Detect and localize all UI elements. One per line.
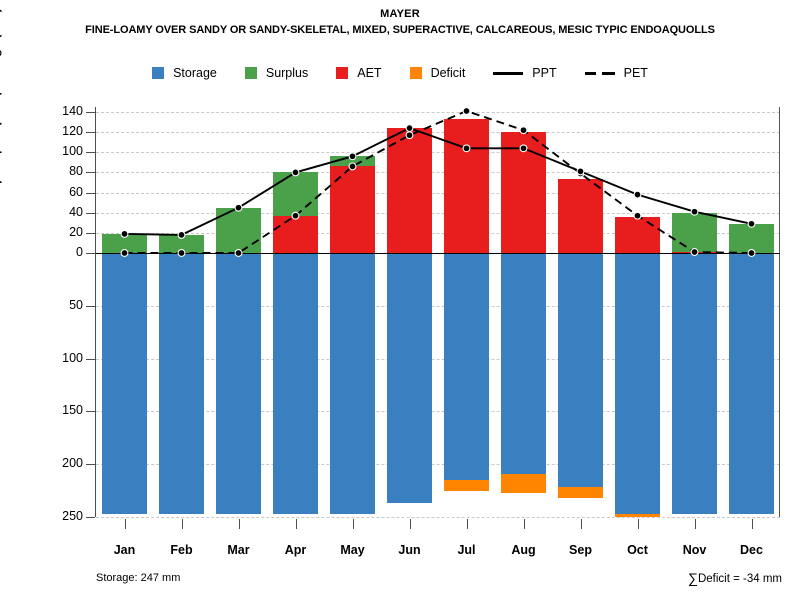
legend-swatch-deficit <box>410 67 422 79</box>
x-axis-label-nov: Nov <box>665 543 725 557</box>
legend-label-deficit: Deficit <box>431 66 466 80</box>
y-tick-label: 100 <box>62 351 83 365</box>
x-axis-label-oct: Oct <box>608 543 668 557</box>
water-balance-chart: MAYER FINE-LOAMY OVER SANDY OR SANDY-SKE… <box>0 0 800 600</box>
y-tick-label: 250 <box>62 509 83 523</box>
x-axis-label-mar: Mar <box>209 543 269 557</box>
y-tick-mark <box>86 152 95 153</box>
bar-segment-surplus-feb <box>159 235 203 253</box>
bar-segment-surplus-may <box>330 156 374 166</box>
y-tick-mark <box>86 464 95 465</box>
y-tick-mark <box>86 306 95 307</box>
y-tick-mark <box>86 517 95 518</box>
y-tick-mark <box>86 253 95 254</box>
bar-column-dec[interactable] <box>729 107 773 517</box>
x-tick-nov <box>695 519 696 529</box>
x-tick-oct <box>638 519 639 529</box>
y-tick-label: 150 <box>62 403 83 417</box>
bar-column-oct[interactable] <box>615 107 659 517</box>
x-axis-label-sep: Sep <box>551 543 611 557</box>
x-tick-may <box>353 519 354 529</box>
bar-column-apr[interactable] <box>273 107 317 517</box>
x-axis-label-jan: Jan <box>95 543 155 557</box>
y-tick-label: 50 <box>69 298 83 312</box>
x-axis-label-may: May <box>323 543 383 557</box>
legend-item-pet[interactable]: PET <box>585 66 648 80</box>
x-tick-mar <box>239 519 240 529</box>
bar-segment-storage-oct <box>615 253 659 514</box>
y-tick-label: 0 <box>76 245 83 259</box>
bar-segment-deficit-oct <box>615 514 659 517</box>
bar-column-mar[interactable] <box>216 107 260 517</box>
y-tick-label: 100 <box>62 144 83 158</box>
bar-column-may[interactable] <box>330 107 374 517</box>
bar-segment-surplus-apr <box>273 172 317 215</box>
bar-segment-aet-jun <box>387 128 431 253</box>
y-tick-mark <box>86 411 95 412</box>
legend-item-ppt[interactable]: PPT <box>493 66 556 80</box>
y-tick-label: 40 <box>69 205 83 219</box>
bar-segment-storage-feb <box>159 253 203 514</box>
y-tick-mark <box>86 213 95 214</box>
bar-segment-deficit-jul <box>444 480 488 491</box>
bar-segment-storage-dec <box>729 253 773 514</box>
y-tick-label: 60 <box>69 185 83 199</box>
bar-segment-surplus-dec <box>729 224 773 253</box>
x-tick-apr <box>296 519 297 529</box>
bar-segment-surplus-mar <box>216 208 260 253</box>
bar-column-aug[interactable] <box>501 107 545 517</box>
legend-item-deficit[interactable]: Deficit <box>410 66 466 80</box>
bar-segment-aet-sep <box>558 179 602 253</box>
bar-column-nov[interactable] <box>672 107 716 517</box>
deficit-annotation: ∑Deficit = -34 mm <box>688 570 782 586</box>
bar-segment-storage-sep <box>558 253 602 487</box>
y-tick-label: 120 <box>62 124 83 138</box>
bar-column-sep[interactable] <box>558 107 602 517</box>
x-tick-aug <box>524 519 525 529</box>
deficit-annotation-text: Deficit = -34 mm <box>698 573 782 585</box>
y-tick-mark <box>86 233 95 234</box>
legend-label-pet: PET <box>624 66 648 80</box>
y-tick-mark <box>86 359 95 360</box>
x-axis-label-dec: Dec <box>722 543 782 557</box>
x-tick-jan <box>125 519 126 529</box>
x-axis-label-feb: Feb <box>152 543 212 557</box>
bar-segment-storage-mar <box>216 253 260 514</box>
bar-segment-storage-jun <box>387 253 431 503</box>
bar-segment-surplus-jan <box>102 234 146 253</box>
legend-label-surplus: Surplus <box>266 66 308 80</box>
zero-baseline <box>96 253 780 254</box>
legend-label-storage: Storage <box>173 66 217 80</box>
x-axis-label-jul: Jul <box>437 543 497 557</box>
y-tick-mark <box>86 193 95 194</box>
bar-segment-aet-may <box>330 166 374 253</box>
y-tick-label: 200 <box>62 456 83 470</box>
x-axis-label-jun: Jun <box>380 543 440 557</box>
chart-legend: StorageSurplusAETDeficitPPTPET <box>0 66 800 80</box>
y-tick-mark <box>86 132 95 133</box>
bar-segment-deficit-aug <box>501 474 545 493</box>
x-tick-feb <box>182 519 183 529</box>
legend-item-storage[interactable]: Storage <box>152 66 217 80</box>
bar-segment-aet-apr <box>273 216 317 253</box>
bar-segment-aet-oct <box>615 217 659 253</box>
y-tick-label: 80 <box>69 164 83 178</box>
y-tick-mark <box>86 172 95 173</box>
bar-segment-storage-jan <box>102 253 146 514</box>
legend-item-surplus[interactable]: Surplus <box>245 66 308 80</box>
bar-segment-storage-aug <box>501 253 545 474</box>
y-axis-title: Inputs | Outputs | Storage (mm) <box>0 0 2 195</box>
bar-segment-storage-jul <box>444 253 488 480</box>
x-tick-dec <box>752 519 753 529</box>
bar-segment-deficit-sep <box>558 487 602 498</box>
chart-subtitle: FINE-LOAMY OVER SANDY OR SANDY-SKELETAL,… <box>0 24 800 36</box>
legend-swatch-storage <box>152 67 164 79</box>
y-tick-label: 140 <box>62 104 83 118</box>
bar-segment-storage-apr <box>273 253 317 514</box>
legend-swatch-aet <box>336 67 348 79</box>
bar-segment-surplus-nov <box>672 213 716 252</box>
storage-annotation: Storage: 247 mm <box>96 572 180 584</box>
bar-column-jan[interactable] <box>102 107 146 517</box>
bar-column-jul[interactable] <box>444 107 488 517</box>
bar-segment-aet-aug <box>501 132 545 253</box>
plot-area <box>96 107 780 517</box>
sigma-icon: ∑ <box>688 570 698 586</box>
bar-segment-storage-nov <box>672 253 716 514</box>
x-tick-jul <box>467 519 468 529</box>
gridline <box>96 517 780 518</box>
bar-column-feb[interactable] <box>159 107 203 517</box>
legend-label-aet: AET <box>357 66 381 80</box>
bar-column-jun[interactable] <box>387 107 431 517</box>
bar-segment-aet-jul <box>444 119 488 253</box>
x-tick-sep <box>581 519 582 529</box>
x-axis-label-apr: Apr <box>266 543 326 557</box>
chart-title: MAYER <box>0 8 800 20</box>
x-axis-label-aug: Aug <box>494 543 554 557</box>
x-tick-jun <box>410 519 411 529</box>
y-tick-mark <box>86 112 95 113</box>
legend-item-aet[interactable]: AET <box>336 66 381 80</box>
legend-swatch-surplus <box>245 67 257 79</box>
y-tick-label: 20 <box>69 225 83 239</box>
legend-label-ppt: PPT <box>532 66 556 80</box>
bar-segment-storage-may <box>330 253 374 514</box>
plot-right-border <box>779 107 780 517</box>
